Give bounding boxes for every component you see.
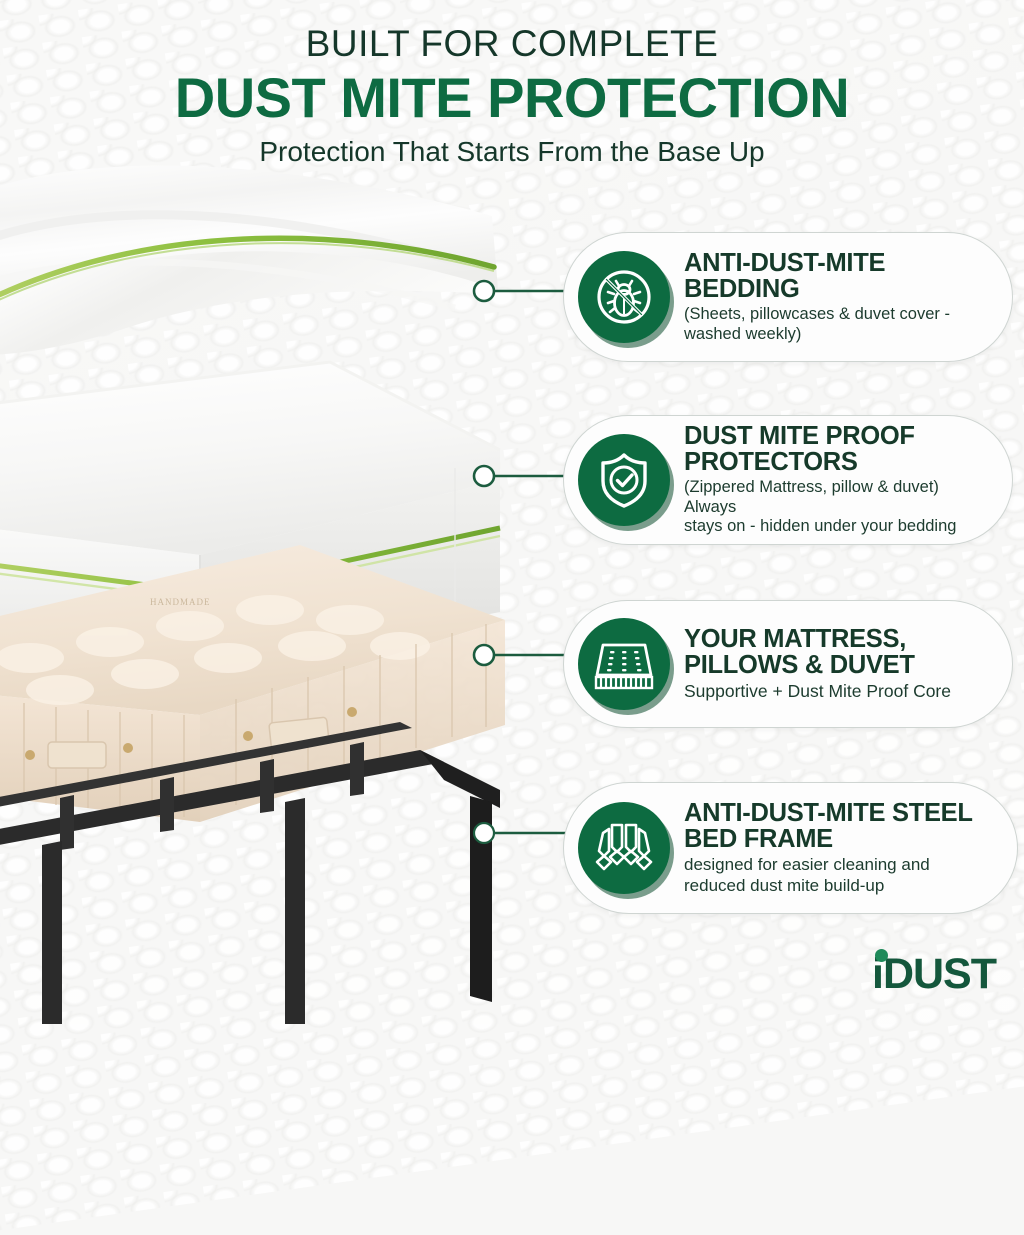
logo-text: iDUST	[872, 953, 996, 996]
card-text-block: ANTI-DUST-MITE STEEL BED FRAME designed …	[684, 800, 1017, 895]
page-title: DUST MITE PROTECTION	[0, 68, 1024, 128]
callout-card-bed-frame[interactable]: ANTI-DUST-MITE STEEL BED FRAME designed …	[563, 782, 1018, 914]
illustration-layer-bedding-sheet	[0, 166, 498, 356]
card-text-block: DUST MITE PROOF PROTECTORS (Zippered Mat…	[684, 423, 1012, 536]
svg-text:HANDMADE: HANDMADE	[150, 597, 211, 607]
no-bug-icon	[578, 251, 670, 343]
logo-dot-icon	[875, 949, 888, 962]
card-subtitle: (Zippered Mattress, pillow & duvet) Alwa…	[684, 478, 986, 536]
card-title: DUST MITE PROOF PROTECTORS	[684, 423, 986, 475]
card-title: YOUR MATTRESS, PILLOWS & DUVET	[684, 626, 986, 678]
card-subtitle: (Sheets, pillowcases & duvet cover - was…	[684, 305, 986, 344]
mattress-icon	[578, 618, 670, 710]
header-kicker: BUILT FOR COMPLETE	[0, 24, 1024, 64]
shield-check-icon	[578, 434, 670, 526]
card-subtitle: Supportive + Dust Mite Proof Core	[684, 681, 986, 702]
card-title: ANTI-DUST-MITE BEDDING	[684, 250, 986, 302]
callout-card-mattress[interactable]: YOUR MATTRESS, PILLOWS & DUVET Supportiv…	[563, 600, 1013, 728]
brand-logo: iDUST	[872, 953, 996, 996]
callout-card-bedding[interactable]: ANTI-DUST-MITE BEDDING (Sheets, pillowca…	[563, 232, 1013, 362]
steel-bed-frame-icon	[578, 802, 670, 894]
card-title: ANTI-DUST-MITE STEEL BED FRAME	[684, 800, 991, 852]
callout-card-protectors[interactable]: DUST MITE PROOF PROTECTORS (Zippered Mat…	[563, 415, 1013, 545]
card-text-block: ANTI-DUST-MITE BEDDING (Sheets, pillowca…	[684, 250, 1012, 344]
exploded-bed-illustration: HANDMADE	[0, 150, 560, 1024]
header-subtitle: Protection That Starts From the Base Up	[0, 136, 1024, 168]
card-subtitle: designed for easier cleaning and reduced…	[684, 855, 991, 895]
card-text-block: YOUR MATTRESS, PILLOWS & DUVET Supportiv…	[684, 626, 1012, 702]
header: BUILT FOR COMPLETE DUST MITE PROTECTION …	[0, 0, 1024, 169]
